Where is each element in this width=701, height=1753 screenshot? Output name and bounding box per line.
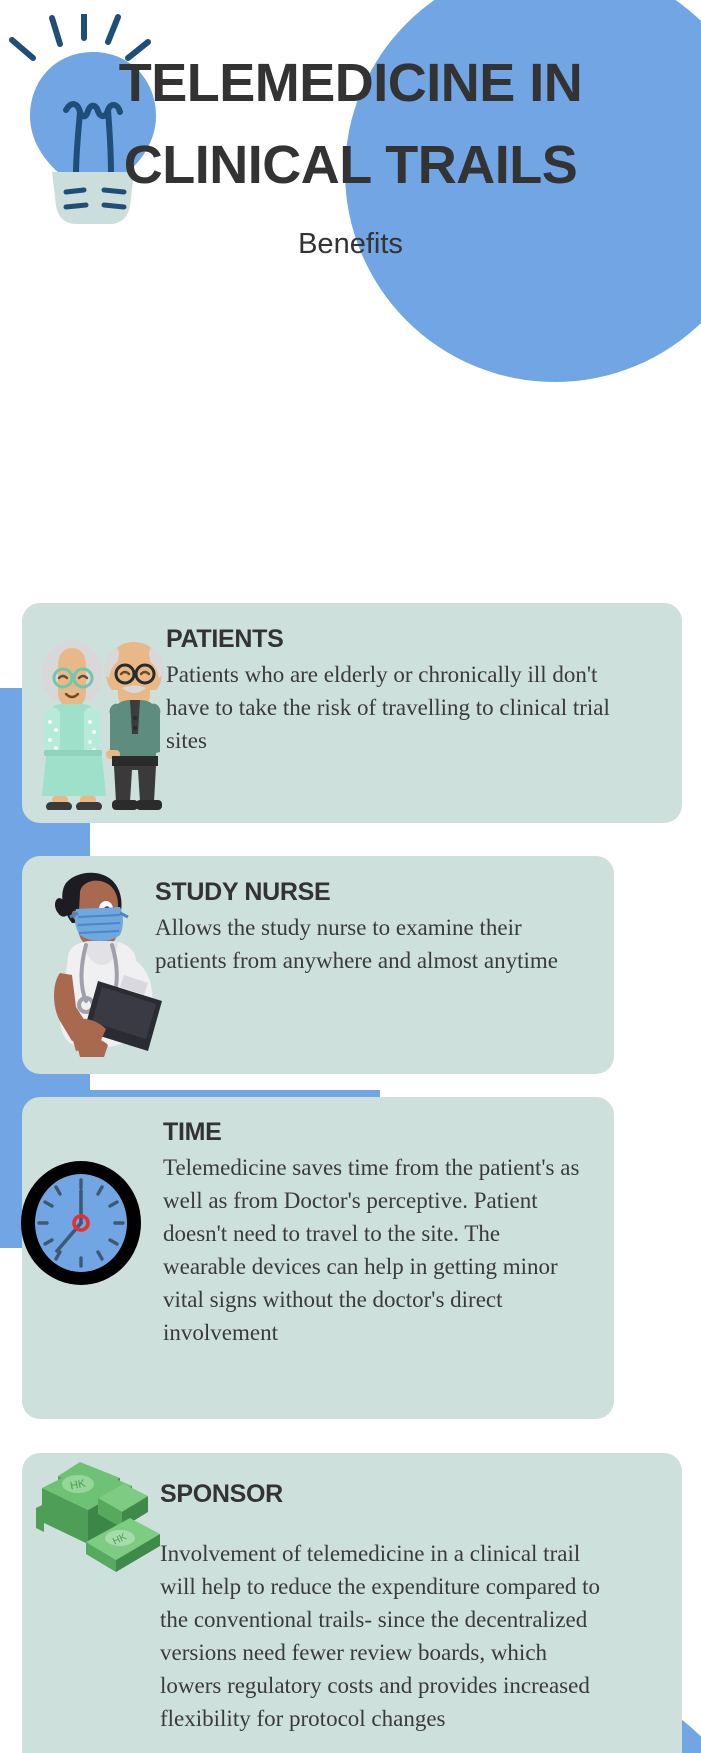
infographic-poster: TELEMEDICINE IN CLINICAL TRAILS Benefits <box>0 0 701 1753</box>
poster-title: TELEMEDICINE IN CLINICAL TRAILS <box>0 52 701 196</box>
benefit-card-study-nurse-text: Allows the study nurse to examine their … <box>155 911 595 977</box>
benefit-card-time-text: Telemedicine saves time from the patient… <box>163 1151 583 1349</box>
benefit-card-sponsor-text: Involvement of telemedicine in a clinica… <box>160 1537 610 1735</box>
poster-header: TELEMEDICINE IN CLINICAL TRAILS Benefits <box>0 0 701 300</box>
benefit-card-time-body: TIME Telemedicine saves time from the pa… <box>163 1118 583 1349</box>
title-line-2: CLINICAL TRAILS <box>0 134 701 196</box>
elderly-couple-icon <box>30 630 170 810</box>
benefit-card-patients-title: PATIENTS <box>166 625 611 654</box>
benefit-card-study-nurse-body: STUDY NURSE Allows the study nurse to ex… <box>155 878 595 977</box>
poster-subtitle: Benefits <box>0 228 701 261</box>
benefit-card-patients-body: PATIENTS Patients who are elderly or chr… <box>166 625 611 757</box>
study-nurse-icon <box>24 865 164 1065</box>
benefit-card-study-nurse-title: STUDY NURSE <box>155 878 595 907</box>
title-line-1: TELEMEDICINE IN <box>0 52 701 114</box>
benefit-card-sponsor-body: SPONSOR Involvement of telemedicine in a… <box>160 1480 610 1735</box>
money-stack-icon: HK HK <box>20 1448 170 1578</box>
benefit-card-time-title: TIME <box>163 1118 583 1147</box>
benefit-card-sponsor-title: SPONSOR <box>160 1480 610 1509</box>
wall-clock-icon <box>16 1158 146 1288</box>
benefit-card-patients-text: Patients who are elderly or chronically … <box>166 658 611 757</box>
